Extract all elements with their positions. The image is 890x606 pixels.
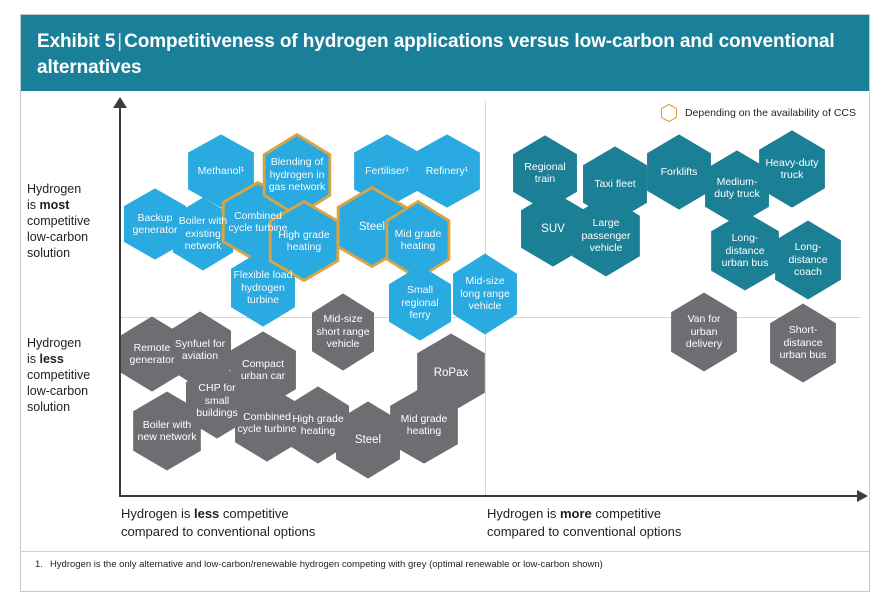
- hex-marker-mid-size-long-range-vehicle[interactable]: Mid-size long range vehicle: [451, 252, 519, 336]
- x-right-bold: more: [560, 506, 592, 521]
- x-left-pre: Hydrogen is: [121, 506, 194, 521]
- hex-marker-long-distance-urban-bus[interactable]: Long-distance urban bus: [709, 210, 781, 292]
- y-axis-line: [119, 105, 121, 497]
- hex-label: Large passenger vehicle: [570, 217, 642, 255]
- hex-label: Heavy-duty truck: [757, 157, 827, 182]
- hex-marker-mid-size-short-range-vehicle[interactable]: Mid-size short range vehicle: [310, 292, 376, 372]
- y-bot-l3: competitive: [27, 368, 90, 382]
- hex-label: Van for urban delivery: [669, 313, 739, 351]
- x-axis-line: [119, 495, 861, 497]
- hex-label: Short-distance urban bus: [768, 324, 838, 362]
- x-left-line2: compared to conventional options: [121, 524, 315, 539]
- exhibit-label: Exhibit 5: [37, 31, 115, 52]
- hex-label: Compact urban car: [228, 358, 298, 383]
- exhibit-title: Exhibit 5|Competitiveness of hydrogen ap…: [37, 29, 849, 81]
- hex-label: Mid-size short range vehicle: [310, 313, 376, 351]
- y-top-l5: solution: [27, 246, 70, 260]
- hex-marker-small-regional-ferry[interactable]: Small regional ferry: [387, 264, 453, 342]
- y-bot-l5: solution: [27, 400, 70, 414]
- hex-label: RoPax: [415, 367, 487, 380]
- hex-label: Boiler with new network: [131, 419, 203, 444]
- y-axis-label-top: Hydrogen is most competitive low-carbon …: [27, 181, 119, 261]
- y-bot-l2-pre: is: [27, 352, 40, 366]
- x-axis-caption-right: Hydrogen is more competitive compared to…: [487, 505, 787, 541]
- footnote-text: Hydrogen is the only alternative and low…: [50, 559, 603, 570]
- exhibit-page: Exhibit 5|Competitiveness of hydrogen ap…: [0, 0, 890, 606]
- y-axis-label-bottom: Hydrogen is less competitive low-carbon …: [27, 335, 119, 415]
- hex-marker-refinery[interactable]: Refinery¹: [412, 133, 482, 209]
- title-divider: |: [115, 31, 124, 52]
- hex-label: Mid grade heating: [388, 413, 460, 438]
- y-top-l3: competitive: [27, 214, 90, 228]
- y-axis-arrow-icon: [113, 97, 127, 108]
- y-bot-l4: low-carbon: [27, 384, 88, 398]
- chart-plot-area: Depending on the availability of CCS Hyd…: [21, 91, 869, 511]
- x-right-post: competitive: [592, 506, 661, 521]
- x-left-bold: less: [194, 506, 219, 521]
- x-axis-arrow-icon: [857, 490, 868, 502]
- hex-marker-ropax[interactable]: RoPax: [415, 332, 487, 414]
- hex-label: Synfuel for aviation: [167, 338, 233, 363]
- hex-label: Flexible load hydrogen turbine: [229, 269, 297, 307]
- y-top-l1: Hydrogen: [27, 182, 81, 196]
- hex-label: Refinery¹: [412, 165, 482, 178]
- y-bot-l1: Hydrogen: [27, 336, 81, 350]
- x-left-post: competitive: [219, 506, 288, 521]
- footnote-number: 1.: [35, 559, 43, 570]
- hex-marker-short-distance-urban-bus[interactable]: Short-distance urban bus: [768, 302, 838, 384]
- y-top-l2-bold: most: [40, 198, 70, 212]
- exhibit-footnote: 1. Hydrogen is the only alternative and …: [21, 551, 869, 570]
- hex-label: Blending of hydrogen in gas network: [262, 156, 332, 194]
- hex-label: Mid-size long range vehicle: [451, 275, 519, 313]
- chart-legend: Depending on the availability of CCS: [661, 104, 856, 122]
- hex-marker-large-passenger-vehicle[interactable]: Large passenger vehicle: [570, 194, 642, 278]
- y-bot-l2-bold: less: [40, 352, 64, 366]
- hex-marker-van-for-urban-delivery[interactable]: Van for urban delivery: [669, 291, 739, 373]
- exhibit-title-text: Competitiveness of hydrogen applications…: [37, 31, 835, 78]
- x-axis-caption-left: Hydrogen is less competitive compared to…: [121, 505, 421, 541]
- legend-label: Depending on the availability of CCS: [685, 107, 856, 119]
- hex-label: Long-distance coach: [773, 241, 843, 279]
- hex-label: Long-distance urban bus: [709, 232, 781, 270]
- x-right-line2: compared to conventional options: [487, 524, 681, 539]
- hex-label: Mid grade heating: [385, 228, 451, 253]
- hex-marker-long-distance-coach[interactable]: Long-distance coach: [773, 219, 843, 301]
- y-top-l2-pre: is: [27, 198, 40, 212]
- hex-label: Taxi fleet: [581, 178, 649, 191]
- hex-label: High grade heating: [268, 229, 340, 254]
- x-right-pre: Hydrogen is: [487, 506, 560, 521]
- hex-label: Regional train: [511, 161, 579, 186]
- hex-label: Methanol¹: [186, 165, 256, 178]
- y-top-l4: low-carbon: [27, 230, 88, 244]
- hex-label: Small regional ferry: [387, 284, 453, 322]
- ccs-hexagon-outline-icon: [661, 104, 677, 122]
- exhibit-header-banner: Exhibit 5|Competitiveness of hydrogen ap…: [21, 15, 869, 91]
